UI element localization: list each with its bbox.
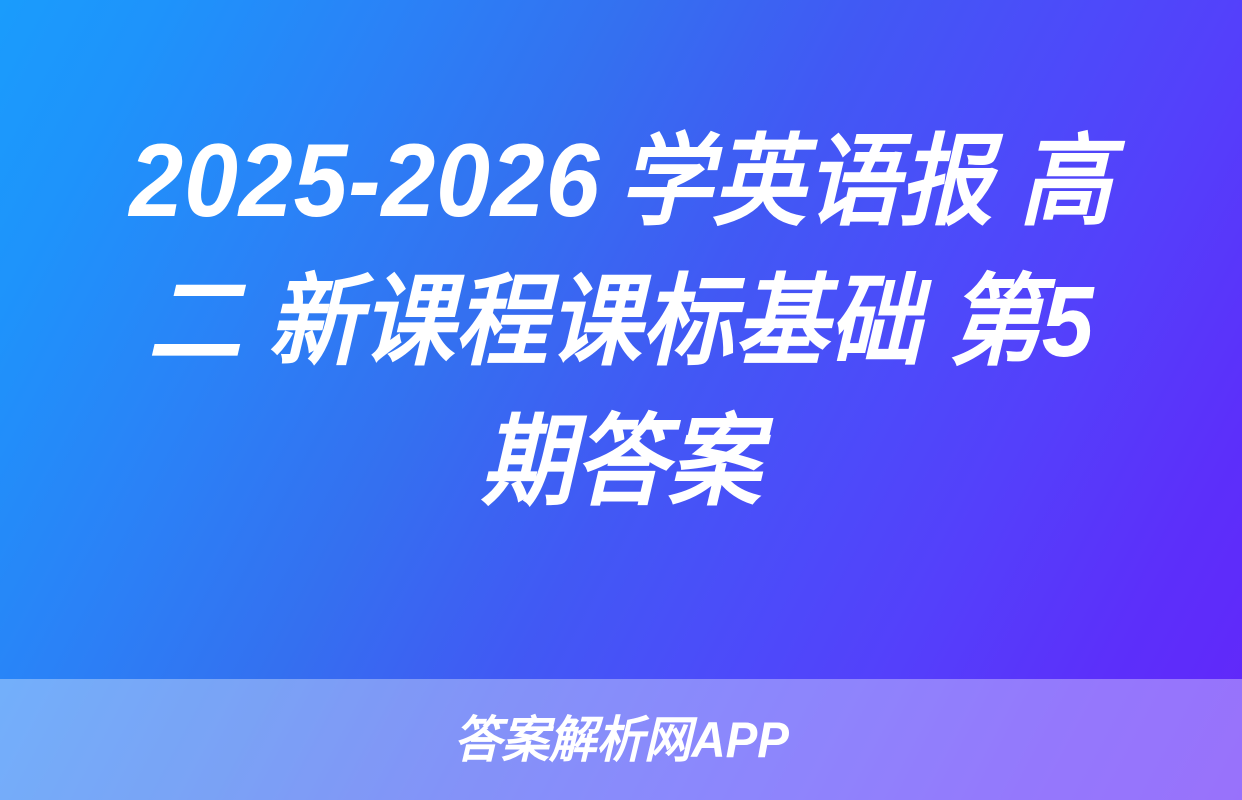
headline-line-3-cjk: 期答案: [481, 406, 761, 518]
poster-canvas: 2025-2026学英语报 高 二 新课程课标基础 第5 期答案 答案解析网AP…: [0, 0, 1242, 800]
footer-watermark-band: 答案解析网APP: [0, 679, 1242, 800]
headline-line-3: 期答案: [70, 392, 1173, 532]
headline-line-1: 2025-2026学英语报 高: [70, 111, 1173, 252]
headline-line-2: 二 新课程课标基础 第5: [70, 252, 1173, 392]
headline-line-1-year-range: 2025-2026: [129, 123, 600, 239]
headline-line-1-cjk: 学英语报 高: [619, 126, 1113, 238]
headline-block: 2025-2026学英语报 高 二 新课程课标基础 第5 期答案: [0, 0, 1242, 679]
headline-line-2-cjk: 二 新课程课标基础 第5: [148, 266, 1094, 378]
footer-watermark-text: 答案解析网APP: [453, 715, 788, 765]
